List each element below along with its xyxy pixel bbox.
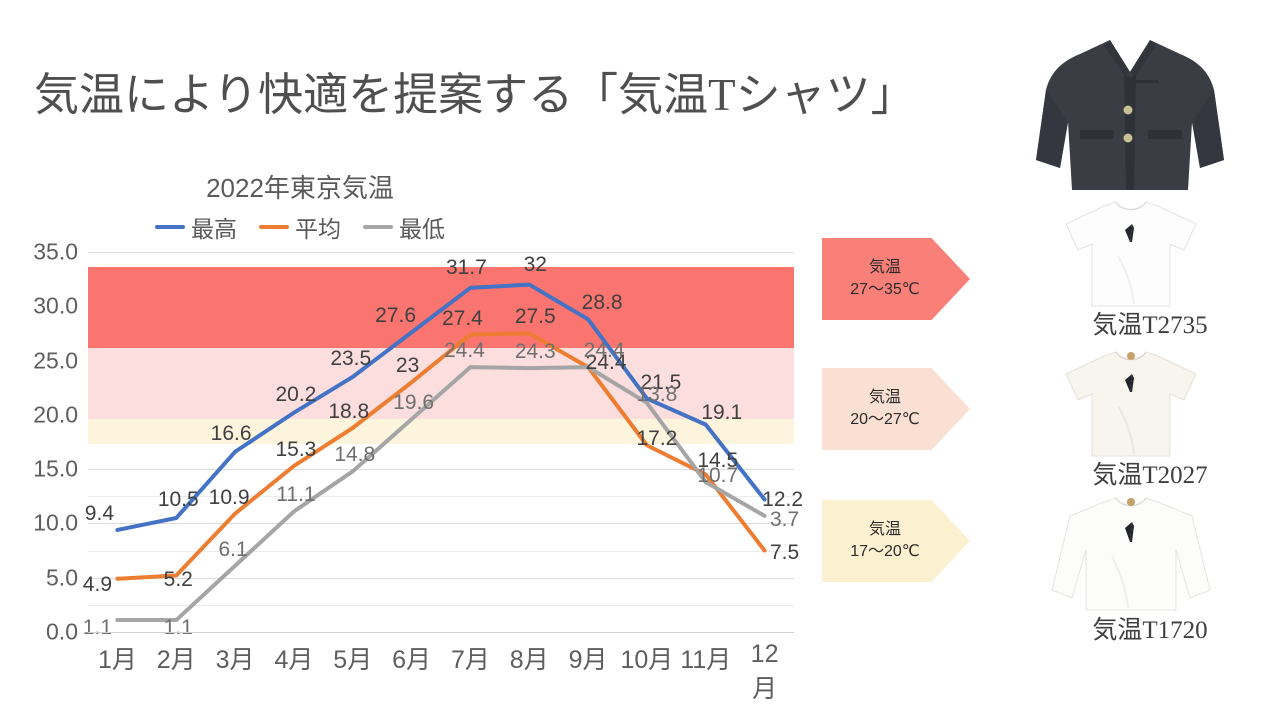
callout-1720-line2: 17〜20℃	[850, 541, 920, 563]
callout-1720: 気温 17〜20℃	[822, 500, 970, 582]
product-label-1720: 気温T1720	[1020, 610, 1280, 646]
plot-area: 9.410.516.620.223.527.631.73228.821.519.…	[88, 252, 794, 632]
y-axis-tick: 10.0	[0, 510, 78, 537]
temperature-chart: 2022年東京気温 最高平均最低 0.05.010.015.020.025.03…	[0, 160, 810, 690]
y-axis-tick: 5.0	[0, 564, 78, 591]
y-axis-tick: 0.0	[0, 619, 78, 646]
x-axis-tick: 6月	[392, 640, 431, 676]
legend-swatch	[155, 225, 185, 229]
series-line-平均	[117, 333, 764, 578]
x-axis-tick: 8月	[510, 640, 549, 676]
callout-2735: 気温 27〜35℃	[822, 238, 970, 320]
slide-canvas: 気温により快適を提案する「気温Tシャツ」 2022年東京気温 最高平均最低 0.…	[0, 0, 1280, 720]
legend-swatch	[259, 225, 289, 229]
x-axis-tick: 12月	[750, 640, 779, 705]
tshirt-long-icon	[1042, 494, 1220, 616]
legend-label: 平均	[295, 210, 341, 244]
product-image-tshirt-2027	[1056, 348, 1206, 460]
callout-2735-line1: 気温	[869, 257, 901, 279]
x-axis-tick: 11月	[680, 640, 731, 676]
x-axis-line	[88, 632, 794, 633]
y-axis-tick: 25.0	[0, 347, 78, 374]
callout-2027-line2: 20〜27℃	[850, 409, 920, 431]
page-title: 気温により快適を提案する「気温Tシャツ」	[34, 58, 916, 123]
x-axis-tick: 5月	[333, 640, 372, 676]
plot-wrapper: 0.05.010.015.020.025.030.035.0 9.410.516…	[0, 252, 810, 692]
y-axis: 0.05.010.015.020.025.030.035.0	[0, 252, 78, 632]
y-axis-tick: 30.0	[0, 293, 78, 320]
x-axis-tick: 1月	[98, 640, 137, 676]
callout-2735-line2: 27〜35℃	[850, 279, 920, 301]
tshirt-short-icon	[1056, 348, 1206, 460]
series-lines	[88, 252, 794, 632]
x-axis: 1月2月3月4月5月6月7月8月9月10月11月12月	[88, 640, 794, 686]
callout-1720-line1: 気温	[869, 519, 901, 541]
y-axis-tick: 35.0	[0, 239, 78, 266]
blazer-icon	[1024, 18, 1236, 200]
y-axis-tick: 20.0	[0, 401, 78, 428]
product-image-tshirt-2735	[1056, 198, 1206, 310]
legend-item-最高: 最高	[155, 210, 237, 244]
callout-2027-line1: 気温	[869, 387, 901, 409]
legend-item-最低: 最低	[363, 210, 445, 244]
product-image-tshirt-1720	[1042, 494, 1220, 616]
x-axis-tick: 4月	[274, 640, 313, 676]
chart-title: 2022年東京気温	[0, 168, 600, 205]
series-line-最低	[117, 367, 764, 620]
legend-swatch	[363, 225, 393, 229]
callout-2027: 気温 20〜27℃	[822, 368, 970, 450]
legend-label: 最高	[191, 210, 237, 244]
series-line-最高	[117, 285, 764, 530]
legend-label: 最低	[399, 210, 445, 244]
x-axis-tick: 10月	[621, 640, 674, 676]
product-label-2027: 気温T2027	[1020, 455, 1280, 491]
tshirt-short-icon	[1056, 198, 1206, 310]
x-axis-tick: 3月	[216, 640, 255, 676]
product-label-2735: 気温T2735	[1020, 305, 1280, 341]
legend-item-平均: 平均	[259, 210, 341, 244]
product-image-blazer	[1024, 18, 1236, 200]
x-axis-tick: 9月	[569, 640, 608, 676]
chart-legend: 最高平均最低	[0, 210, 600, 244]
x-axis-tick: 2月	[157, 640, 196, 676]
y-axis-tick: 15.0	[0, 456, 78, 483]
x-axis-tick: 7月	[451, 640, 490, 676]
